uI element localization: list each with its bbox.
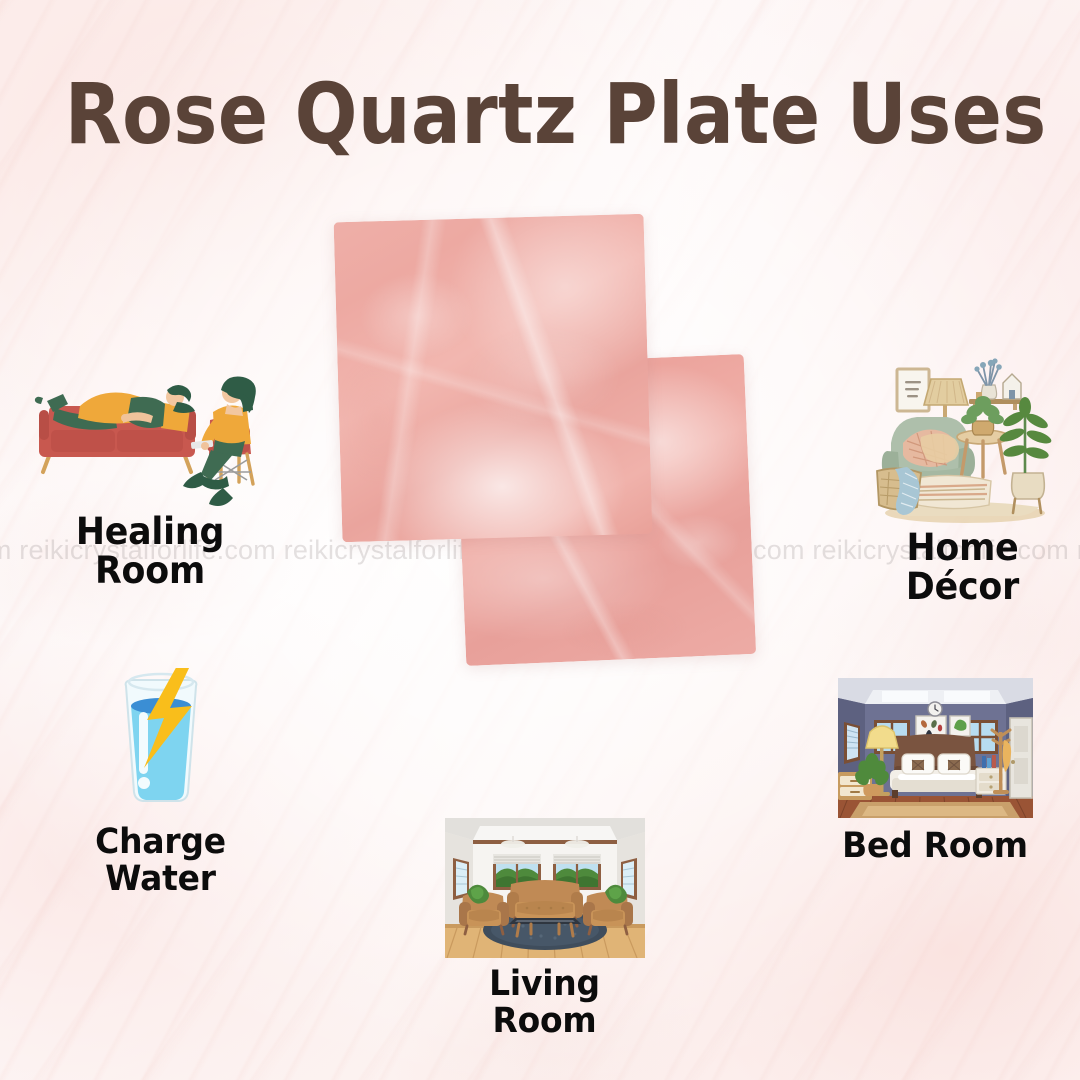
item-label-charge-water: Charge Water bbox=[83, 824, 238, 898]
item-healing-room: Healing Room bbox=[10, 368, 290, 590]
page-title: Rose Quartz Plate Uses bbox=[65, 72, 1015, 156]
item-label-bed-room: Bed Room bbox=[841, 828, 1029, 865]
glass-of-water-with-lightning-icon bbox=[106, 668, 216, 818]
quartz-veining bbox=[334, 214, 653, 543]
living-room-illustration bbox=[445, 818, 645, 958]
item-label-living-room: Living Room bbox=[448, 966, 641, 1040]
item-label-home-decor: Home Décor bbox=[852, 528, 1073, 606]
item-living-room: Living Room bbox=[442, 818, 647, 1040]
item-bed-room: Bed Room bbox=[835, 678, 1035, 865]
rose-quartz-plate-front bbox=[334, 214, 653, 543]
home-decor-illustration bbox=[873, 355, 1053, 530]
bedroom-illustration bbox=[838, 678, 1033, 818]
rose-quartz-plates-image bbox=[330, 215, 790, 695]
item-label-healing-room: Healing Room bbox=[18, 512, 281, 590]
healing-room-illustration bbox=[25, 368, 275, 508]
item-home-decor: Home Décor bbox=[845, 355, 1080, 606]
infographic-poster: Rose Quartz Plate Uses com reikicrystalf… bbox=[0, 0, 1080, 1080]
item-charge-water: Charge Water bbox=[78, 668, 243, 898]
